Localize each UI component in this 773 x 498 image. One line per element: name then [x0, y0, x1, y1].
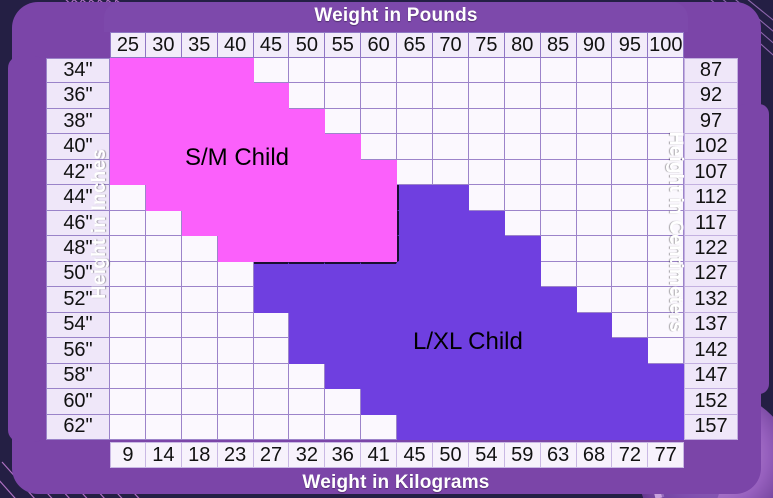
- grid-cell-lxl: [397, 185, 433, 210]
- grid-cell-lxl: [577, 338, 613, 363]
- grid-cell-sm: [325, 236, 361, 261]
- grid-cell-sm: [361, 211, 397, 236]
- col-footer-kg-59: 59: [505, 442, 541, 468]
- grid-cell-sm: [146, 134, 182, 159]
- grid-cell-empty: [433, 58, 469, 83]
- grid-cell-empty: [289, 389, 325, 414]
- grid-cell-sm: [325, 134, 361, 159]
- grid-cell-empty: [541, 58, 577, 83]
- grid-cell-empty: [577, 109, 613, 134]
- grid-cell-empty: [541, 236, 577, 261]
- row-header-cm-2: 97: [684, 109, 738, 134]
- grid-cell-empty: [146, 287, 182, 312]
- grid-cell-empty: [325, 389, 361, 414]
- grid-cell-sm: [182, 58, 218, 83]
- grid-cell-empty: [110, 389, 146, 414]
- grid-cell-lxl: [433, 236, 469, 261]
- col-footer-kg-18: 18: [182, 442, 218, 468]
- grid-cell-lxl: [541, 415, 577, 440]
- col-footer-kg-27: 27: [254, 442, 290, 468]
- row-header-cm-12: 147: [684, 364, 738, 389]
- grid-cell-lxl: [541, 313, 577, 338]
- grid-cell-lxl: [612, 415, 648, 440]
- col-footer-kg-41: 41: [361, 442, 397, 468]
- grid-cell-empty: [541, 160, 577, 185]
- grid-cell-lxl: [469, 211, 505, 236]
- grid-cell-empty: [182, 364, 218, 389]
- grid-cell-sm: [182, 211, 218, 236]
- column-footer-kilograms: 9141823273236414550545963687277: [110, 442, 684, 468]
- grid-cell-lxl: [541, 364, 577, 389]
- grid-cell-lxl: [397, 262, 433, 287]
- grid-cell-sm: [218, 109, 254, 134]
- grid-cell-empty: [612, 262, 648, 287]
- col-header-lb-45: 45: [254, 32, 290, 58]
- grid-cell-sm: [325, 211, 361, 236]
- grid-cell-lxl: [648, 415, 684, 440]
- grid-cell-empty: [218, 287, 254, 312]
- grid-cell-sm: [289, 160, 325, 185]
- grid-cell-empty: [146, 364, 182, 389]
- grid-cell-empty: [289, 83, 325, 108]
- grid-cell-empty: [146, 236, 182, 261]
- grid-cell-empty: [469, 83, 505, 108]
- col-header-lb-75: 75: [469, 32, 505, 58]
- grid-cell-empty: [254, 338, 290, 363]
- grid-cell-empty: [182, 313, 218, 338]
- grid-cell-empty: [110, 415, 146, 440]
- grid-cell-empty: [397, 160, 433, 185]
- row-header-cm-0: 87: [684, 58, 738, 83]
- grid-cell-empty: [146, 415, 182, 440]
- grid-cell-empty: [612, 109, 648, 134]
- grid-cell-sm: [254, 211, 290, 236]
- row-header-cm-7: 122: [684, 236, 738, 261]
- col-footer-kg-45: 45: [397, 442, 433, 468]
- grid-cell-lxl: [433, 185, 469, 210]
- grid-cell-lxl: [469, 262, 505, 287]
- grid-cell-empty: [361, 415, 397, 440]
- grid-cell-empty: [577, 83, 613, 108]
- grid-cell-lxl: [361, 313, 397, 338]
- grid-cell-lxl: [469, 415, 505, 440]
- grid-cell-empty: [469, 134, 505, 159]
- row-header-cm-6: 117: [684, 211, 738, 236]
- grid-cell-sm: [289, 185, 325, 210]
- grid-cell-lxl: [577, 415, 613, 440]
- grid-cell-sm: [146, 185, 182, 210]
- row-header-cm-13: 152: [684, 389, 738, 414]
- col-header-lb-25: 25: [110, 32, 146, 58]
- grid-cell-empty: [612, 83, 648, 108]
- grid-cell-sm: [361, 185, 397, 210]
- grid-cell-empty: [505, 185, 541, 210]
- grid-cell-empty: [325, 109, 361, 134]
- grid-cell-lxl: [325, 338, 361, 363]
- grid-cell-lxl: [612, 364, 648, 389]
- grid-cell-lxl: [433, 287, 469, 312]
- grid-cell-lxl: [361, 338, 397, 363]
- size-grid: [110, 58, 684, 440]
- grid-cell-sm: [218, 58, 254, 83]
- grid-cell-empty: [433, 83, 469, 108]
- col-footer-kg-32: 32: [289, 442, 325, 468]
- col-header-lb-95: 95: [612, 32, 648, 58]
- grid-cell-lxl: [289, 287, 325, 312]
- col-header-lb-60: 60: [361, 32, 397, 58]
- grid-cell-sm: [146, 160, 182, 185]
- grid-cell-empty: [577, 134, 613, 159]
- grid-cell-lxl: [361, 287, 397, 312]
- row-header-cm-10: 137: [684, 313, 738, 338]
- grid-cell-empty: [433, 134, 469, 159]
- row-header-cm-9: 132: [684, 287, 738, 312]
- grid-cell-lxl: [612, 338, 648, 363]
- grid-cell-lxl: [361, 389, 397, 414]
- grid-cell-lxl: [469, 389, 505, 414]
- right-axis-bar: [735, 104, 769, 394]
- grid-cell-lxl: [289, 313, 325, 338]
- grid-cell-empty: [397, 83, 433, 108]
- grid-cell-empty: [541, 134, 577, 159]
- region-label-lxl-child: L/XL Child: [413, 328, 523, 356]
- grid-cell-empty: [505, 58, 541, 83]
- grid-cell-sm: [182, 83, 218, 108]
- grid-cell-sm: [254, 236, 290, 261]
- grid-cell-empty: [433, 109, 469, 134]
- row-header-cm-1: 92: [684, 83, 738, 108]
- region-label-sm-child: S/M Child: [185, 144, 289, 172]
- grid-cell-empty: [612, 58, 648, 83]
- grid-cell-empty: [254, 364, 290, 389]
- col-header-lb-100: 100: [648, 32, 684, 58]
- grid-cell-sm: [218, 185, 254, 210]
- grid-cell-sm: [361, 236, 397, 261]
- grid-cell-empty: [469, 160, 505, 185]
- grid-cell-empty: [612, 313, 648, 338]
- col-header-lb-50: 50: [289, 32, 325, 58]
- grid-cell-sm: [146, 83, 182, 108]
- col-footer-kg-23: 23: [218, 442, 254, 468]
- grid-cell-lxl: [433, 415, 469, 440]
- axis-title-weight-pounds: Weight in Pounds: [104, 1, 688, 31]
- grid-cell-lxl: [505, 262, 541, 287]
- col-header-lb-65: 65: [397, 32, 433, 58]
- grid-cell-empty: [397, 134, 433, 159]
- grid-cell-empty: [577, 185, 613, 210]
- grid-cell-empty: [577, 160, 613, 185]
- row-header-cm-11: 142: [684, 338, 738, 363]
- grid-cell-empty: [612, 236, 648, 261]
- grid-cell-sm: [182, 109, 218, 134]
- grid-cell-lxl: [397, 236, 433, 261]
- grid-cell-lxl: [361, 364, 397, 389]
- grid-cell-lxl: [577, 389, 613, 414]
- grid-cell-sm: [182, 185, 218, 210]
- grid-cell-empty: [577, 58, 613, 83]
- grid-cell-lxl: [433, 211, 469, 236]
- grid-cell-sm: [254, 109, 290, 134]
- grid-cell-sm: [289, 134, 325, 159]
- grid-cell-empty: [541, 211, 577, 236]
- grid-cell-empty: [505, 160, 541, 185]
- grid-cell-empty: [469, 185, 505, 210]
- grid-cell-sm: [254, 185, 290, 210]
- grid-cell-empty: [254, 58, 290, 83]
- grid-cell-lxl: [289, 338, 325, 363]
- grid-cell-lxl: [325, 364, 361, 389]
- grid-cell-lxl: [469, 236, 505, 261]
- grid-cell-empty: [577, 262, 613, 287]
- col-footer-kg-50: 50: [433, 442, 469, 468]
- grid-cell-empty: [218, 364, 254, 389]
- col-footer-kg-68: 68: [577, 442, 613, 468]
- grid-cell-lxl: [505, 364, 541, 389]
- col-header-lb-40: 40: [218, 32, 254, 58]
- grid-cell-lxl: [361, 262, 397, 287]
- grid-cell-empty: [541, 83, 577, 108]
- grid-cell-empty: [218, 262, 254, 287]
- grid-cell-sm: [325, 185, 361, 210]
- grid-cell-empty: [505, 109, 541, 134]
- grid-cell-lxl: [469, 287, 505, 312]
- row-header-cm-4: 107: [684, 160, 738, 185]
- grid-cell-empty: [289, 58, 325, 83]
- row-header-centimeters: 8792971021071121171221271321371421471521…: [684, 58, 738, 440]
- grid-cell-lxl: [325, 262, 361, 287]
- grid-cell-sm: [325, 160, 361, 185]
- grid-cell-empty: [505, 134, 541, 159]
- col-header-lb-55: 55: [325, 32, 361, 58]
- grid-cell-empty: [541, 262, 577, 287]
- grid-cell-empty: [612, 185, 648, 210]
- grid-cell-lxl: [541, 389, 577, 414]
- grid-cell-lxl: [433, 262, 469, 287]
- row-header-cm-3: 102: [684, 134, 738, 159]
- grid-cell-lxl: [505, 287, 541, 312]
- grid-cell-lxl: [612, 389, 648, 414]
- grid-cell-lxl: [397, 415, 433, 440]
- grid-cell-lxl: [505, 236, 541, 261]
- left-axis-bar: [8, 56, 46, 442]
- col-footer-kg-72: 72: [612, 442, 648, 468]
- grid-cell-empty: [397, 109, 433, 134]
- col-footer-kg-77: 77: [648, 442, 684, 468]
- column-header-pounds: 253035404550556065707580859095100: [110, 32, 684, 58]
- grid-cell-lxl: [541, 287, 577, 312]
- col-footer-kg-54: 54: [469, 442, 505, 468]
- grid-cell-empty: [433, 160, 469, 185]
- grid-cell-empty: [146, 262, 182, 287]
- grid-cell-sm: [289, 236, 325, 261]
- grid-cell-empty: [182, 338, 218, 363]
- grid-cell-empty: [254, 389, 290, 414]
- grid-cell-empty: [218, 338, 254, 363]
- row-header-in-14: 62": [46, 415, 110, 440]
- grid-cell-empty: [361, 109, 397, 134]
- grid-cell-empty: [289, 415, 325, 440]
- row-header-cm-14: 157: [684, 415, 738, 440]
- grid-cell-lxl: [397, 364, 433, 389]
- axis-title-height-centimeters: Height in Centimeters: [658, 67, 692, 397]
- row-header-cm-5: 112: [684, 185, 738, 210]
- grid-cell-empty: [289, 364, 325, 389]
- grid-cell-sm: [218, 211, 254, 236]
- grid-cell-lxl: [505, 415, 541, 440]
- grid-cell-lxl: [469, 364, 505, 389]
- grid-cell-sm: [146, 58, 182, 83]
- grid-cell-empty: [182, 415, 218, 440]
- grid-cell-empty: [541, 109, 577, 134]
- grid-cell-empty: [218, 415, 254, 440]
- grid-cell-empty: [182, 262, 218, 287]
- grid-cell-lxl: [505, 389, 541, 414]
- col-footer-kg-9: 9: [110, 442, 146, 468]
- grid-cell-lxl: [289, 262, 325, 287]
- grid-cell-lxl: [541, 338, 577, 363]
- grid-cell-lxl: [577, 313, 613, 338]
- grid-cell-empty: [146, 211, 182, 236]
- grid-cell-empty: [577, 236, 613, 261]
- grid-cell-empty: [182, 236, 218, 261]
- grid-cell-empty: [577, 211, 613, 236]
- row-header-cm-8: 127: [684, 262, 738, 287]
- grid-cell-empty: [612, 287, 648, 312]
- grid-cell-lxl: [254, 262, 290, 287]
- grid-cell-empty: [505, 83, 541, 108]
- grid-cell-empty: [325, 415, 361, 440]
- grid-cell-empty: [146, 338, 182, 363]
- grid-cell-empty: [612, 211, 648, 236]
- grid-cell-lxl: [397, 389, 433, 414]
- grid-cell-empty: [254, 415, 290, 440]
- grid-cell-lxl: [325, 287, 361, 312]
- grid-cell-empty: [505, 211, 541, 236]
- grid-cell-empty: [577, 287, 613, 312]
- axis-title-height-inches: Height in Inches: [83, 59, 117, 389]
- grid-cell-empty: [146, 313, 182, 338]
- grid-cell-sm: [361, 160, 397, 185]
- grid-cell-empty: [361, 134, 397, 159]
- col-footer-kg-14: 14: [146, 442, 182, 468]
- grid-cell-empty: [146, 389, 182, 414]
- col-footer-kg-36: 36: [325, 442, 361, 468]
- grid-cell-empty: [361, 83, 397, 108]
- grid-cell-empty: [325, 83, 361, 108]
- row-header-in-13: 60": [46, 389, 110, 414]
- col-footer-kg-63: 63: [541, 442, 577, 468]
- grid-cell-lxl: [577, 364, 613, 389]
- grid-cell-empty: [182, 287, 218, 312]
- grid-cell-empty: [325, 58, 361, 83]
- grid-cell-sm: [289, 211, 325, 236]
- grid-cell-sm: [289, 109, 325, 134]
- grid-cell-empty: [469, 58, 505, 83]
- grid-cell-sm: [254, 83, 290, 108]
- grid-cell-empty: [182, 389, 218, 414]
- col-header-lb-30: 30: [146, 32, 182, 58]
- grid-cell-sm: [218, 83, 254, 108]
- grid-cell-lxl: [254, 287, 290, 312]
- col-header-lb-90: 90: [577, 32, 613, 58]
- grid-cell-empty: [397, 58, 433, 83]
- grid-cell-sm: [146, 109, 182, 134]
- grid-cell-empty: [218, 313, 254, 338]
- grid-cell-lxl: [433, 389, 469, 414]
- grid-cell-empty: [469, 109, 505, 134]
- grid-cell-empty: [218, 389, 254, 414]
- col-header-lb-35: 35: [182, 32, 218, 58]
- axis-title-weight-kilograms: Weight in Kilograms: [104, 468, 688, 498]
- grid-cell-empty: [541, 185, 577, 210]
- grid-cell-empty: [254, 313, 290, 338]
- col-header-lb-85: 85: [541, 32, 577, 58]
- grid-cell-empty: [612, 160, 648, 185]
- grid-cell-lxl: [397, 287, 433, 312]
- grid-cell-empty: [361, 58, 397, 83]
- col-header-lb-80: 80: [505, 32, 541, 58]
- col-header-lb-70: 70: [433, 32, 469, 58]
- grid-cell-empty: [612, 134, 648, 159]
- grid-cell-lxl: [397, 211, 433, 236]
- grid-cell-lxl: [433, 364, 469, 389]
- grid-cell-sm: [218, 236, 254, 261]
- grid-cell-lxl: [325, 313, 361, 338]
